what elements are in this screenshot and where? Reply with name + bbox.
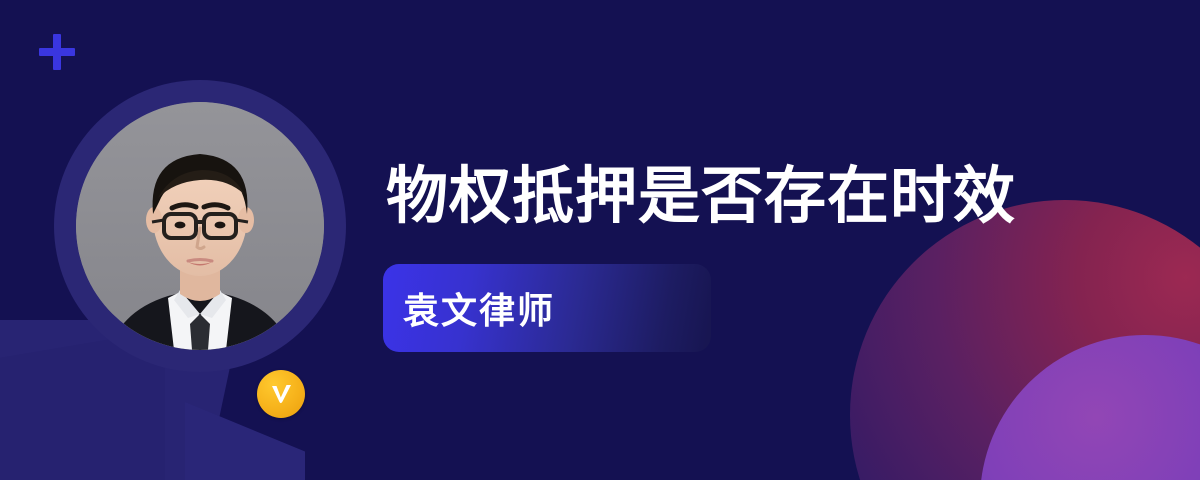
avatar-photo — [76, 102, 324, 350]
avatar — [54, 80, 346, 372]
lawyer-name-badge[interactable]: 袁文律师 — [383, 264, 711, 352]
plus-icon — [39, 34, 75, 70]
page-title: 物权抵押是否存在时效 — [386, 164, 1016, 229]
verified-badge-icon — [257, 370, 305, 418]
lawyer-name-label: 袁文律师 — [383, 282, 555, 334]
lawyer-video-banner: 物权抵押是否存在时效 袁文律师 — [0, 0, 1200, 480]
